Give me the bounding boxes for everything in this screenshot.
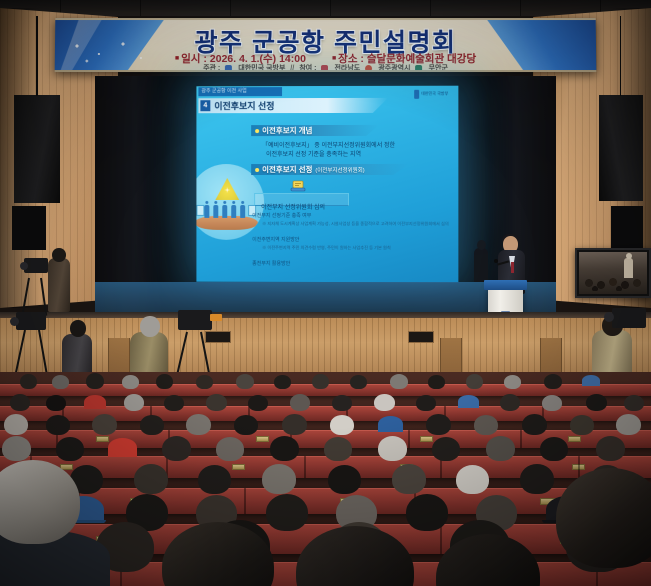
slide-bullet-1: 이전부지 선정기준 충족 여부 xyxy=(252,212,311,219)
slide-bullet-1-sub: ※ 지자체 도시계획상 사업계획 가능성, 시설사업성 등을 종합적으로 고려하… xyxy=(262,221,449,227)
monitor-speaker-figure xyxy=(624,258,633,278)
audience-head xyxy=(236,374,254,389)
audience-head xyxy=(4,414,28,435)
audience-cap xyxy=(582,375,600,386)
audience-head xyxy=(52,375,69,389)
ceiling xyxy=(0,0,651,16)
audience-head xyxy=(206,394,227,411)
audience-head xyxy=(156,374,173,389)
illustration-person-icon xyxy=(204,205,209,218)
slide-bullet-2-sub: ※ 이전주변지역 주민 의견수렴 반영, 주민이 원하는 사업추진 등 기본 원… xyxy=(262,245,391,251)
loudspeaker-right-rigging xyxy=(620,16,622,96)
audience-head xyxy=(216,437,244,461)
background-attendant xyxy=(474,248,488,282)
audience-head xyxy=(390,374,408,389)
slide-committee-box: 이전부지 선정위원회 심의 xyxy=(254,193,349,206)
audience-head xyxy=(140,415,164,435)
audience-head xyxy=(266,494,308,531)
slide-section-2-title-text: 이전후보지 선정 xyxy=(262,165,312,174)
audience-head xyxy=(134,464,168,494)
slide-section-2-bar: 이전후보지 선정(이전부지선정위원회) xyxy=(251,164,409,175)
audience-head xyxy=(162,436,191,461)
camera-operator-left-head xyxy=(52,248,66,262)
wall-vent xyxy=(408,331,434,343)
illustration-tree-icon xyxy=(215,178,239,200)
banner-participant-3: 무안군 xyxy=(429,63,448,72)
slide-section-1-bar: 이전후보지 개념 xyxy=(251,125,379,136)
monitor-crowd-feed xyxy=(581,269,645,291)
illustration-person-icon xyxy=(213,205,218,218)
microphone-icon xyxy=(494,259,498,263)
audience-head xyxy=(570,415,594,435)
audience-head xyxy=(428,375,445,389)
audience-head xyxy=(432,437,460,461)
banner-participants-label: 참여 : xyxy=(299,63,316,72)
camera-lens-right xyxy=(604,312,614,322)
camera-operator-center-head xyxy=(140,316,160,337)
audience-head xyxy=(262,464,296,494)
loudspeaker-right xyxy=(599,95,643,201)
audience-head xyxy=(270,436,299,461)
banner-organizers-row: 주관 : 대한민국 국방부 // 참여 : 전라남도 광주광역시 무안군 xyxy=(55,63,597,72)
projection-screen: 광주 군공항 이전 사업 4 이전후보지 선정 대한민국 국방부 이전후보지 개… xyxy=(196,86,458,283)
audience-head xyxy=(196,375,213,389)
ministry-of-defense-logo-icon xyxy=(225,65,232,72)
audience-head xyxy=(274,375,291,389)
banner-participant-2: 광주광역시 xyxy=(378,63,410,72)
audience-head xyxy=(330,415,354,435)
banner-separator: // xyxy=(290,65,294,72)
audience-head xyxy=(234,415,258,435)
audience-head xyxy=(624,395,644,411)
audience-head xyxy=(46,395,66,411)
illustration-ground xyxy=(196,216,258,230)
audience-head xyxy=(474,415,498,435)
audience-head xyxy=(186,414,211,435)
audience-head xyxy=(392,464,426,494)
wall-monitor xyxy=(575,248,651,298)
loudspeaker-left-small xyxy=(12,206,46,250)
audience-head xyxy=(544,374,562,389)
gwangju-logo-icon xyxy=(365,65,372,72)
audience-head xyxy=(328,465,361,494)
audience-head xyxy=(248,395,268,411)
audience-head xyxy=(542,395,562,411)
taegeuk-mark-icon xyxy=(414,90,419,99)
audience-seating xyxy=(0,372,651,586)
audience-head xyxy=(466,374,483,389)
audience-cap xyxy=(84,395,106,409)
loudspeaker-right-small xyxy=(611,206,643,248)
audience-head xyxy=(46,415,70,435)
illustration-person-icon xyxy=(231,205,236,218)
audience-head xyxy=(616,414,641,435)
audience-head xyxy=(500,394,520,411)
slide-org-logo: 대한민국 국방부 xyxy=(414,89,454,100)
slide-header: 4 이전후보지 선정 xyxy=(198,98,388,113)
audience-head xyxy=(86,373,104,389)
camera-lens-left xyxy=(20,262,28,270)
audience-head xyxy=(2,436,31,461)
seat-number-plate xyxy=(256,436,269,442)
event-banner: 광주 군공항 주민설명회 일시 : 2026. 4. 1.(수) 14:00 장… xyxy=(55,18,597,72)
loudspeaker-left xyxy=(14,95,60,203)
broadcast-camera-center-1 xyxy=(16,312,46,330)
slide-section-number: 4 xyxy=(200,100,210,111)
broadcast-camera-center-2 xyxy=(178,310,212,330)
committee-icon xyxy=(290,178,306,191)
slide-section-1-body-line-2: 이전후보지 선정 기준을 충족하는 지역 xyxy=(266,149,361,158)
slide-section-1-title: 이전후보지 개념 xyxy=(262,125,312,136)
audience-cap xyxy=(378,416,403,432)
seat-number-plate xyxy=(96,436,109,442)
audience-head xyxy=(20,374,37,389)
monitor-image xyxy=(579,252,647,294)
jeonnam-logo-icon xyxy=(321,65,328,72)
audience-head xyxy=(124,394,144,411)
presenter-tie xyxy=(511,262,514,273)
audience-head xyxy=(122,375,139,389)
audience-head xyxy=(290,394,310,411)
bullet-dot-icon xyxy=(255,129,259,133)
slide-tab-label: 광주 군공항 이전 사업 xyxy=(198,87,282,96)
slide-heading: 이전후보지 선정 xyxy=(214,99,274,112)
illustration-person-icon xyxy=(240,205,245,218)
slide-section-2-title: 이전후보지 선정(이전부지선정위원회) xyxy=(262,164,365,177)
audience-head xyxy=(406,494,448,531)
camera-hood-center-2 xyxy=(210,314,222,321)
audience-head xyxy=(540,437,568,461)
auditorium-scene: 광주 군공항 주민설명회 일시 : 2026. 4. 1.(수) 14:00 장… xyxy=(0,0,651,586)
audience-head xyxy=(10,394,30,411)
audience-head xyxy=(198,465,231,494)
audience-head xyxy=(92,414,117,435)
audience-head xyxy=(586,394,607,411)
illustration-building-icon xyxy=(196,205,204,216)
camera-lens-center-1 xyxy=(10,317,19,326)
audience-head xyxy=(416,395,436,411)
seat-number-plate xyxy=(568,436,581,442)
audience-head xyxy=(456,465,489,494)
slide-section-2-subtitle: (이전부지선정위원회) xyxy=(315,168,364,174)
audience-head xyxy=(332,395,352,411)
audience-head xyxy=(312,374,329,389)
podium-top-panel xyxy=(484,280,527,290)
illustration-person-icon xyxy=(222,205,227,218)
audience-head xyxy=(324,437,352,461)
foreground-attendee-head-far-right xyxy=(556,468,651,568)
slide-section-1-body-line-1: 「예비이전후보지」 중 이전부지선정위원회에서 정한 xyxy=(262,140,395,149)
audience-head xyxy=(378,436,407,461)
audience-head xyxy=(520,464,554,494)
bullet-dot-icon xyxy=(255,168,259,172)
audience-cap xyxy=(108,438,137,457)
audience-head xyxy=(282,414,307,435)
audience-head xyxy=(56,437,84,461)
slide-org-logo-text: 대한민국 국방부 xyxy=(421,92,448,96)
audience-head xyxy=(596,436,625,461)
slide-bullet-3: 종전부지 활용방안 xyxy=(252,260,290,267)
audience-head xyxy=(486,436,515,461)
broadcast-camera-right xyxy=(612,308,646,328)
audience-head xyxy=(426,414,451,435)
banner-host-label: 주관 : xyxy=(203,63,220,72)
audience-cap xyxy=(458,395,479,408)
muan-logo-icon xyxy=(416,65,423,72)
audience-head xyxy=(374,394,395,411)
seat-number-plate xyxy=(232,464,245,470)
seat-number-plate xyxy=(420,436,433,442)
camera-operator-left xyxy=(48,258,70,312)
slide-bullet-2: 이전주변지역 지원방안 xyxy=(252,236,299,243)
audience-head xyxy=(350,375,367,389)
banner-participant-1: 전라남도 xyxy=(334,63,360,72)
audience-head xyxy=(504,375,521,389)
slide-committee-box-label: 이전부지 선정위원회 심의 xyxy=(255,205,325,211)
wall-vent xyxy=(205,331,231,343)
loudspeaker-left-rigging xyxy=(36,16,38,96)
audience-head xyxy=(522,414,547,435)
standing-attendee-left-head xyxy=(70,320,86,337)
banner-host-org: 대한민국 국방부 xyxy=(238,63,285,72)
audience-head xyxy=(164,395,184,411)
